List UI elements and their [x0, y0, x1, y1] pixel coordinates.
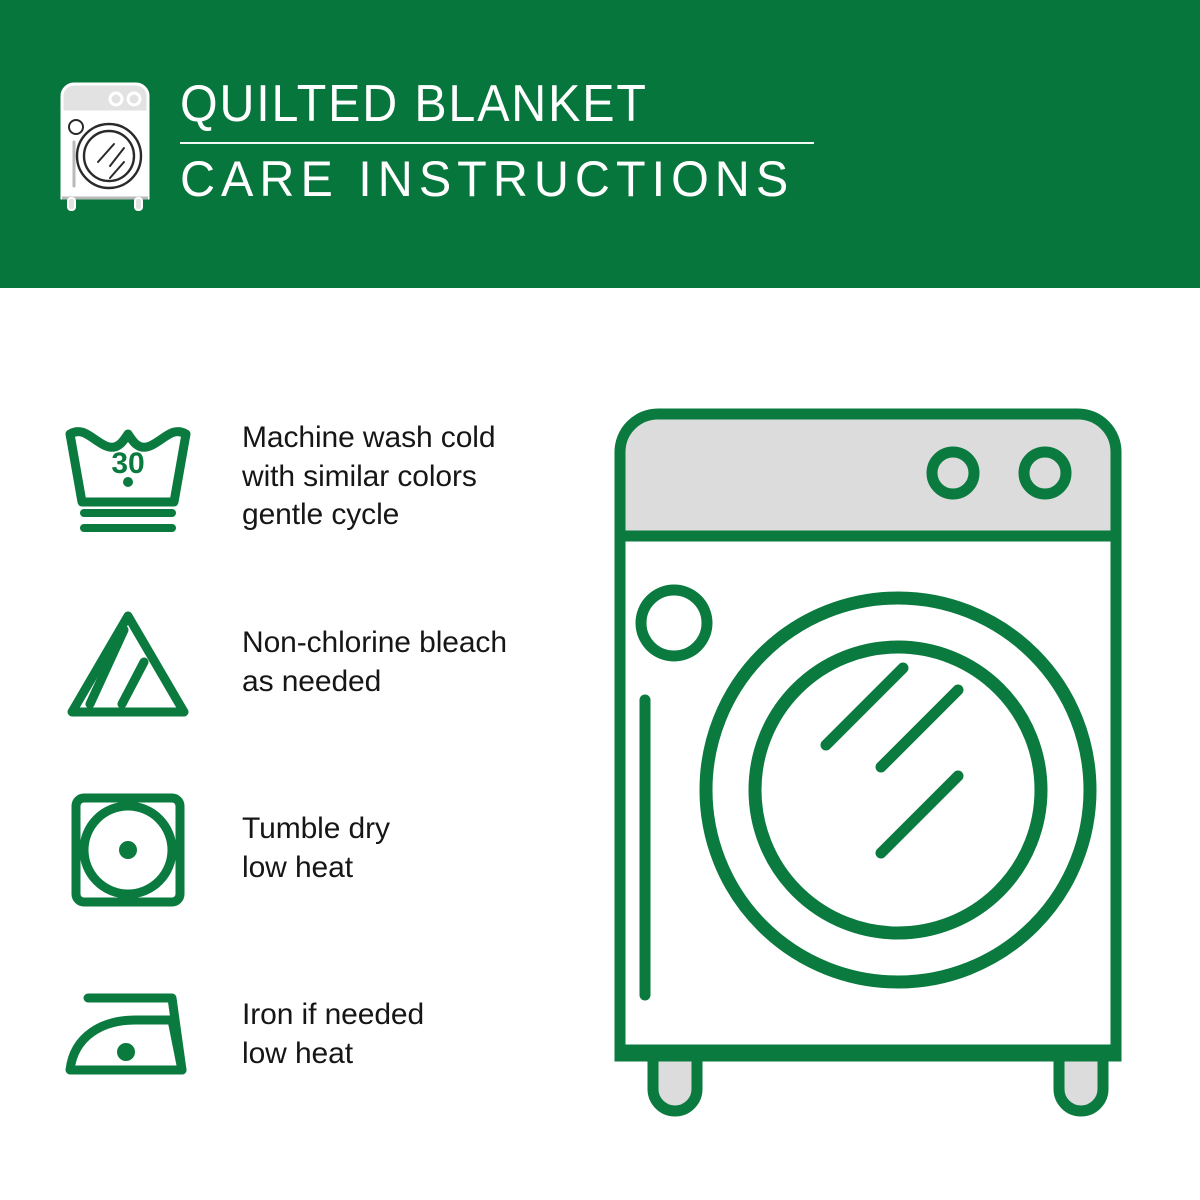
control-knob-left [932, 452, 974, 494]
care-row-machine-wash: 30 Machine wash cold with similar colors… [62, 412, 572, 542]
header-banner: QUILTED BLANKET CARE INSTRUCTIONS [0, 0, 1200, 288]
wash-tub-30-gentle-icon: 30 [62, 418, 194, 536]
tumble-dry-low-heat-icon [62, 790, 194, 908]
page-subtitle: CARE INSTRUCTIONS [180, 153, 795, 206]
title-divider [180, 142, 814, 144]
non-chlorine-bleach-triangle-icon [62, 604, 194, 722]
care-instructions-list: 30 Machine wash cold with similar colors… [62, 412, 572, 1100]
control-knob-right [1024, 452, 1066, 494]
care-label-tumble-dry: Tumble dry low heat [242, 810, 390, 887]
care-label-bleach: Non-chlorine bleach as needed [242, 624, 507, 701]
care-label-iron: Iron if needed low heat [242, 996, 424, 1073]
tumble-dry-dot [119, 841, 137, 859]
care-row-tumble-dry: Tumble dry low heat [62, 784, 572, 914]
door-latch-icon [641, 590, 707, 656]
iron-dot [117, 1043, 135, 1061]
header-content: QUILTED BLANKET CARE INSTRUCTIONS [52, 78, 814, 214]
care-symbol-slot [62, 790, 202, 908]
machine-foot-right [1059, 1056, 1103, 1111]
iron-low-heat-icon [62, 976, 194, 1094]
care-symbol-slot [62, 976, 202, 1094]
care-symbol-slot: 30 [62, 418, 202, 536]
care-label-machine-wash: Machine wash cold with similar colors ge… [242, 419, 495, 535]
washing-machine-icon [52, 82, 158, 214]
page-title: QUILTED BLANKET [180, 78, 770, 131]
washing-machine-illustration [598, 400, 1158, 1120]
care-row-bleach: Non-chlorine bleach as needed [62, 598, 572, 728]
care-symbol-slot [62, 604, 202, 722]
machine-foot-left [653, 1056, 697, 1111]
header-titles: QUILTED BLANKET CARE INSTRUCTIONS [180, 78, 814, 206]
wash-temperature-value: 30 [111, 447, 144, 480]
door-inner-ring [755, 647, 1041, 933]
care-row-iron: Iron if needed low heat [62, 970, 572, 1100]
wash-dot [123, 477, 133, 487]
care-instructions-page: QUILTED BLANKET CARE INSTRUCTIONS 30 [0, 0, 1200, 1200]
